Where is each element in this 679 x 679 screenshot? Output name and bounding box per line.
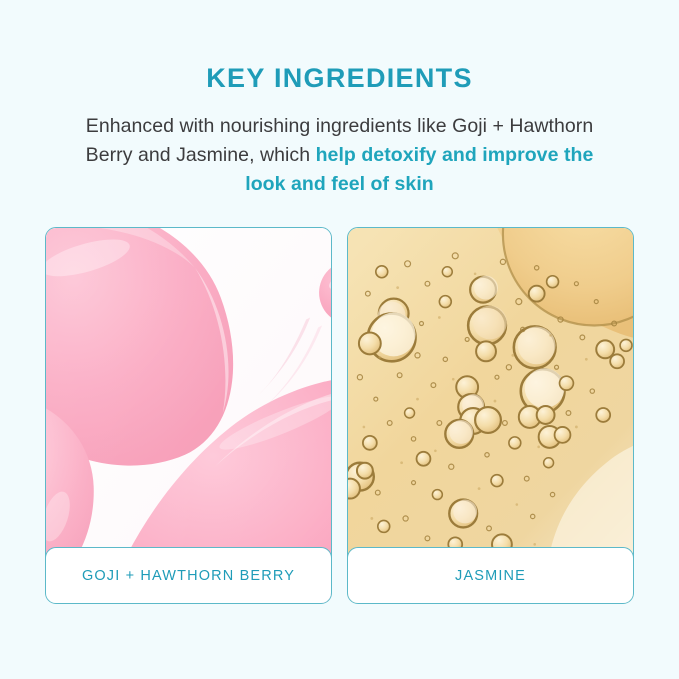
ingredient-label-text: JASMINE bbox=[455, 568, 526, 584]
page-title: KEY INGREDIENTS bbox=[0, 62, 679, 94]
ingredient-card-jasmine[interactable]: JASMINE bbox=[347, 227, 634, 604]
ingredient-card-list: GOJI + HAWTHORN BERRY bbox=[45, 227, 634, 605]
section-subtitle: Enhanced with nourishing ingredients lik… bbox=[70, 112, 610, 199]
ingredient-card-label-jasmine: JASMINE bbox=[347, 547, 634, 604]
ingredient-card-label-goji-hawthorn-berry: GOJI + HAWTHORN BERRY bbox=[45, 547, 332, 604]
key-ingredients-section: KEY INGREDIENTS Enhanced with nourishing… bbox=[0, 0, 679, 679]
ingredient-card-goji-hawthorn-berry[interactable]: GOJI + HAWTHORN BERRY bbox=[45, 227, 332, 604]
heading-block: KEY INGREDIENTS Enhanced with nourishing… bbox=[0, 62, 679, 199]
ingredient-label-text: GOJI + HAWTHORN BERRY bbox=[82, 568, 295, 584]
